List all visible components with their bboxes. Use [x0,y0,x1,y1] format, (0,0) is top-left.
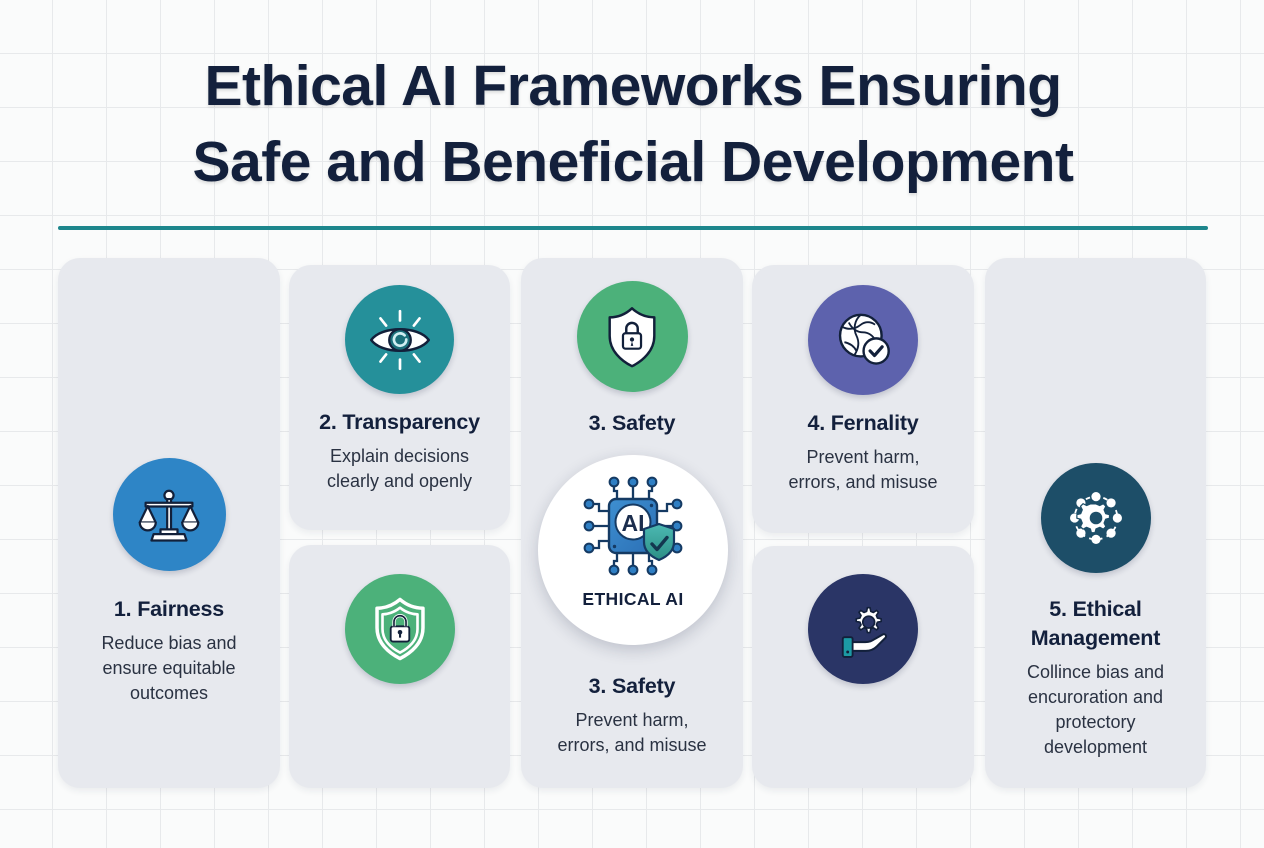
desc-line: development [1044,737,1147,757]
infographic-stage: Ethical AI Frameworks EnsuringSafe and B… [0,0,1264,848]
page-title: Ethical AI Frameworks EnsuringSafe and B… [60,48,1206,200]
card-hand-gear-only-content [752,574,974,684]
desc-line: outcomes [130,683,208,703]
desc-line: ensure equitable [102,658,235,678]
title-line: Management [1031,626,1160,650]
desc-line: Collince bias and [1027,662,1164,682]
ethical-ai-emblem[interactable]: AI ETHICAL AI [538,455,728,645]
card-fernality-content: 4. Fernality Prevent harm, errors, and m… [752,285,974,495]
globe-check-icon [808,285,918,395]
desc-line: Prevent harm, [806,447,919,467]
title-line: 5. Ethical [1049,597,1141,621]
desc-line: clearly and openly [327,471,472,491]
card-safety-center-content: 3. Safety Prevent harm, errors, and misu… [521,658,743,758]
card-safety-top-content: 3. Safety [521,281,743,438]
card-ethical-management-content: 5. Ethical Management Collince bias and … [985,463,1206,760]
page-header: Ethical AI Frameworks EnsuringSafe and B… [60,48,1206,200]
card-fairness-content: 1. Fairness Reduce bias and ensure equit… [58,458,280,706]
gear-network-icon [1041,463,1151,573]
desc-line: Reduce bias and [101,633,236,653]
desc-line: errors, and misuse [557,735,706,755]
hand-gear-icon [808,574,918,684]
card-hand-gear-only[interactable] [752,546,974,788]
shield-lock-icon [577,281,688,392]
desc-line: errors, and misuse [788,472,937,492]
card-fernality-title: 4. Fernality [752,409,974,438]
card-safety-top-title: 3. Safety [521,409,743,438]
page-title-line2: Safe and Beneficial Development [193,130,1074,194]
card-transparency[interactable]: 2. Transparency Explain decisions clearl… [289,265,510,530]
card-fernality[interactable]: 4. Fernality Prevent harm, errors, and m… [752,265,974,533]
card-ethical-management-title: 5. Ethical Management [985,595,1206,653]
card-ethical-management-description: Collince bias and encuroration and prote… [985,660,1206,760]
title-divider [58,226,1208,230]
card-transparency-description: Explain decisions clearly and openly [289,444,510,494]
card-fairness[interactable]: 1. Fairness Reduce bias and ensure equit… [58,258,280,788]
eye-icon [345,285,454,394]
card-fernality-description: Prevent harm, errors, and misuse [752,445,974,495]
card-transparency-title: 2. Transparency [289,408,510,437]
page-title-line1: Ethical AI Frameworks Ensuring [204,54,1061,118]
shield-lock-outline-icon [345,574,455,684]
desc-line: Prevent harm, [575,710,688,730]
card-shield-only[interactable] [289,545,510,788]
ai-chip-shield-icon: AI [571,469,695,586]
balance-scales-icon [113,458,226,571]
card-transparency-content: 2. Transparency Explain decisions clearl… [289,285,510,494]
card-fairness-description: Reduce bias and ensure equitable outcome… [58,631,280,706]
card-shield-only-content [289,574,510,684]
svg-text:AI: AI [622,510,645,536]
card-fairness-title: 1. Fairness [58,595,280,624]
emblem-label: ETHICAL AI [582,589,683,610]
desc-line: encuroration and [1028,687,1163,707]
desc-line: Explain decisions [330,446,469,466]
card-safety-center-title: 3. Safety [521,672,743,701]
desc-line: protectory [1055,712,1135,732]
card-safety-center-description: Prevent harm, errors, and misuse [521,708,743,758]
card-ethical-management[interactable]: 5. Ethical Management Collince bias and … [985,258,1206,788]
